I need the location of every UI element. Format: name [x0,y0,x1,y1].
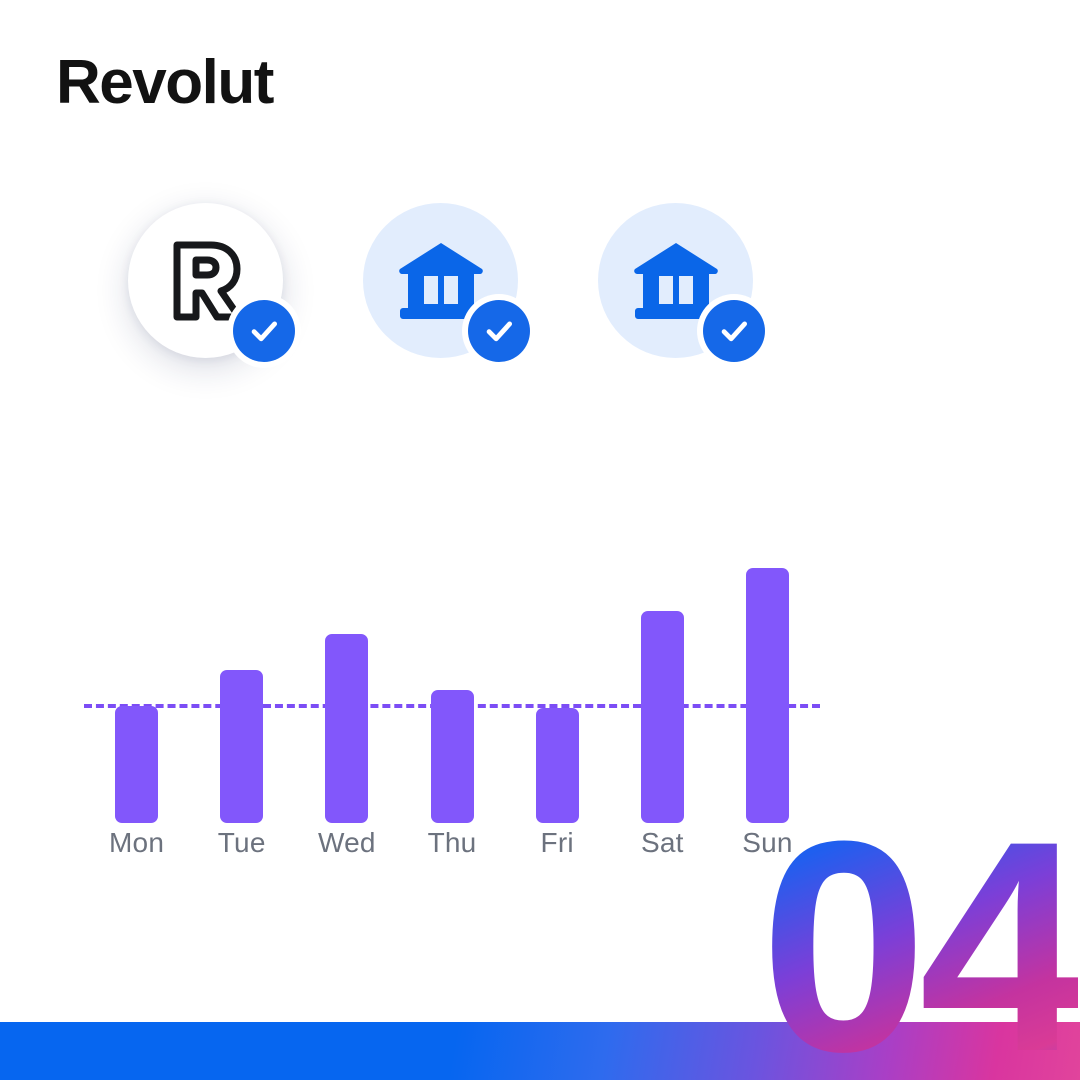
verified-badge-disc [703,300,765,362]
chart-tick-thu: Thu [397,827,507,859]
chart-bars [84,555,820,823]
chart-bar-tue[interactable] [220,670,263,823]
chart-bar-mon[interactable] [115,706,158,823]
weekly-spend-chart: MonTueWedThuFriSatSun [84,555,820,885]
verified-badge [462,294,536,368]
chart-bar-thu[interactable] [431,690,474,823]
chart-tick-mon: Mon [82,827,192,859]
verified-badge-disc [233,300,295,362]
chart-bar-wed[interactable] [325,634,368,823]
chart-x-axis-labels: MonTueWedThuFriSatSun [84,827,820,873]
verified-badge [227,294,301,368]
check-icon [482,314,516,348]
chart-tick-tue: Tue [187,827,297,859]
revolut-spending-card: Revolut [0,0,1080,1080]
account-chip-bank-2[interactable] [598,203,753,358]
account-chip-bank-1[interactable] [363,203,518,358]
account-chip-revolut[interactable] [128,203,283,358]
check-icon [717,314,751,348]
chart-tick-fri: Fri [502,827,612,859]
chart-bar-sat[interactable] [641,611,684,823]
check-icon [247,314,281,348]
linked-accounts-row [128,203,828,393]
brand-wordmark: Revolut [56,52,273,114]
verified-badge-disc [468,300,530,362]
chart-bar-fri[interactable] [536,708,579,823]
verified-badge [697,294,771,368]
chart-tick-sat: Sat [607,827,717,859]
chart-plot-area [84,555,820,823]
step-number: 04 [760,796,1078,1080]
chart-tick-wed: Wed [292,827,402,859]
